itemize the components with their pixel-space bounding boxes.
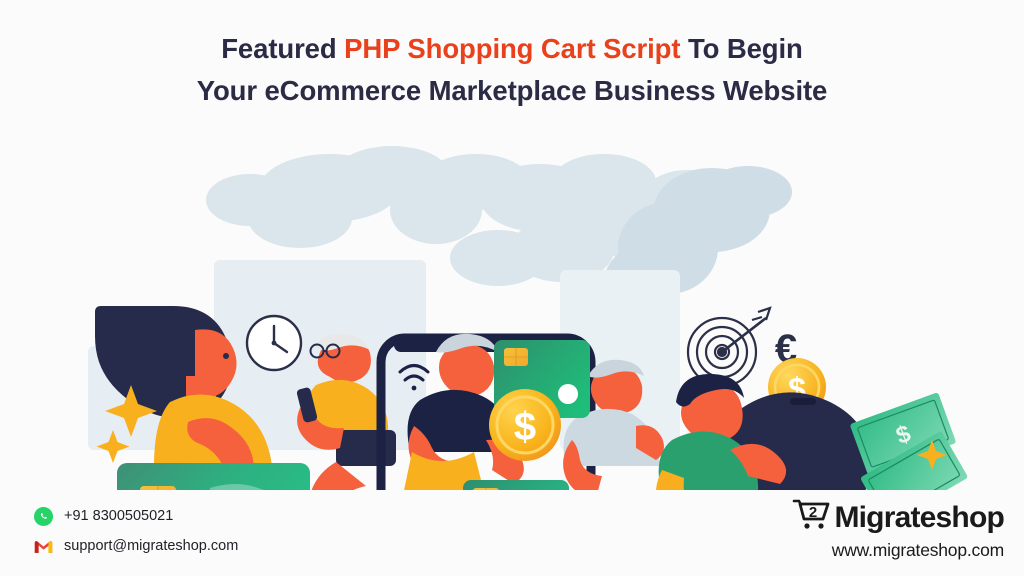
credit-card-floating-bottom: % (463, 480, 569, 490)
illustration-svg: 000 000 000 (0, 140, 1024, 490)
page-title: Featured PHP Shopping Cart Script To Beg… (0, 28, 1024, 112)
banknotes-icon: $ (850, 392, 969, 490)
headline-pre: Featured (221, 33, 344, 64)
headline-line-1: Featured PHP Shopping Cart Script To Beg… (0, 28, 1024, 70)
shopping-cart-logo-icon: 2 (792, 498, 832, 537)
contact-row-email[interactable]: support@migrateshop.com (34, 533, 238, 559)
svg-text:2: 2 (809, 504, 817, 521)
wall-clock-icon (247, 316, 301, 370)
contact-email-text: support@migrateshop.com (64, 538, 238, 554)
whatsapp-icon (34, 507, 53, 526)
brand-block[interactable]: 2 Migrateshop www.migrateshop.com (704, 498, 1004, 561)
target-icon (688, 308, 770, 386)
dollar-symbol-text: $ (514, 405, 536, 449)
banner-root: Featured PHP Shopping Cart Script To Beg… (0, 0, 1024, 576)
footer-contact-block: +91 8300505021 support@migrateshop.com (34, 503, 238, 563)
brand-logo-row: 2 Migrateshop (704, 498, 1004, 537)
headline-line-2: Your eCommerce Marketplace Business Webs… (0, 70, 1024, 112)
brand-url-text: www.migrateshop.com (704, 540, 1004, 561)
contact-row-phone[interactable]: +91 8300505021 (34, 503, 238, 529)
gmail-icon (34, 539, 53, 554)
dollar-coin-center: $ (489, 389, 561, 461)
hero-illustration: 000 000 000 (0, 140, 1024, 490)
contact-phone-text: +91 8300505021 (64, 508, 173, 524)
headline-post: To Begin (680, 33, 802, 64)
credit-card-large: 000 000 000 (117, 463, 310, 490)
headline-accent: PHP Shopping Cart Script (344, 33, 680, 64)
brand-name-text: Migrateshop (834, 501, 1004, 535)
